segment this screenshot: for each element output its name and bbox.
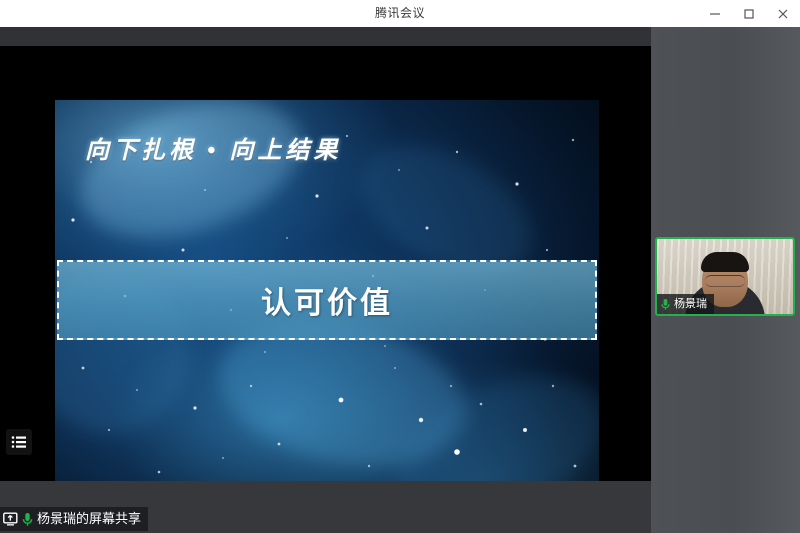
participant-hair bbox=[701, 252, 749, 272]
meeting-body: 向下扎根 • 向上结果 认可价值 bbox=[0, 27, 800, 533]
close-button[interactable] bbox=[766, 0, 800, 27]
slide-title: 向下扎根 • 向上结果 bbox=[85, 130, 341, 165]
list-menu-icon bbox=[11, 435, 27, 449]
maximize-icon bbox=[743, 8, 755, 20]
screen-share-icon bbox=[3, 512, 18, 526]
shared-screen-region[interactable]: 向下扎根 • 向上结果 认可价值 bbox=[0, 27, 651, 533]
window-controls bbox=[698, 0, 800, 27]
list-menu-button[interactable] bbox=[6, 429, 32, 455]
tencent-meeting-window: 腾讯会议 bbox=[0, 0, 800, 533]
participant-video-tile[interactable]: 杨景瑞 bbox=[655, 237, 795, 316]
share-status-label: 杨景瑞的屏幕共享 bbox=[0, 507, 148, 531]
presentation-slide: 向下扎根 • 向上结果 认可价值 bbox=[55, 100, 599, 481]
participant-name: 杨景瑞 bbox=[674, 294, 707, 314]
participant-glasses bbox=[705, 275, 745, 287]
share-bottom-bar: 杨景瑞的屏幕共享 bbox=[0, 481, 651, 533]
close-icon bbox=[777, 8, 789, 20]
participants-panel: 杨景瑞 bbox=[651, 27, 800, 533]
shared-screen-canvas[interactable]: 向下扎根 • 向上结果 认可价值 bbox=[0, 46, 651, 481]
shared-screen-top-band bbox=[0, 27, 651, 46]
slide-banner-text: 认可价值 bbox=[261, 278, 393, 322]
window-title: 腾讯会议 bbox=[0, 0, 800, 27]
slide-banner: 认可价值 bbox=[57, 260, 597, 340]
minimize-button[interactable] bbox=[698, 0, 732, 27]
participant-name-badge: 杨景瑞 bbox=[657, 294, 714, 314]
microphone-icon bbox=[660, 298, 671, 311]
titlebar: 腾讯会议 bbox=[0, 0, 800, 28]
microphone-icon bbox=[21, 512, 34, 527]
minimize-icon bbox=[709, 8, 721, 20]
share-label-text: 杨景瑞的屏幕共享 bbox=[37, 507, 141, 531]
maximize-button[interactable] bbox=[732, 0, 766, 27]
